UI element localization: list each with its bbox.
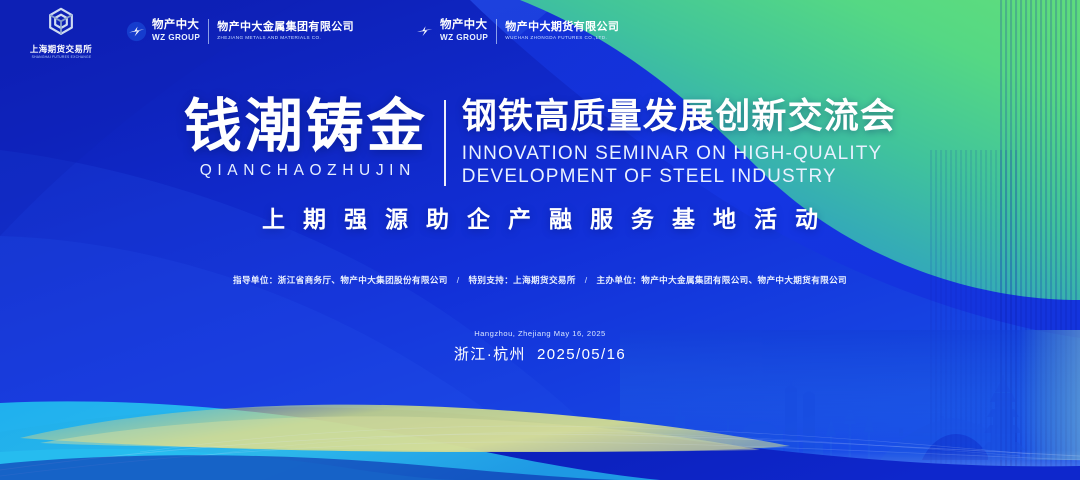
subject-cn: 钢铁高质量发展创新交流会 [462,96,896,138]
hexagon-knot-icon [41,3,81,43]
wz-brand-en: WZ GROUP [440,34,488,42]
wz-brand-cn: 物产中大 [440,20,488,32]
wz-company-en: WUCHAN ZHONGDA FUTURES CO.,LTD. [505,36,619,41]
organizer-separator: / [576,275,597,285]
organizer-separator: / [448,275,469,285]
host-value: 物产中大金属集团有限公司、物产中大期货有限公司 [641,275,847,285]
logo-shanghai-futures-exchange: 上海期货交易所 SHANGHAI FUTURES EXCHANGE [18,3,104,59]
wz-company-cn: 物产中大期货有限公司 [505,22,619,33]
title-divider [444,100,446,186]
sfe-name-cn: 上海期货交易所 [30,45,92,54]
background-artwork [0,0,1080,480]
logo-wuchan-zhongda-futures: 物产中大 WZ GROUP 物产中大期货有限公司 WUCHAN ZHONGDA … [414,16,619,46]
subject-en-line-1: INNOVATION SEMINAR ON HIGH-QUALITY [462,142,896,165]
lightning-bolt-icon [414,21,435,42]
host-label: 主办单位： [597,275,642,285]
wz-company-en: ZHEJIANG METALS AND MATERIALS CO. [217,36,354,41]
conference-banner: 上海期货交易所 SHANGHAI FUTURES EXCHANGE 物产中大 W… [0,0,1080,480]
event-date-block: Hangzhou, Zhejiang May 16, 2025 浙江·杭州 20… [0,328,1080,366]
support-label: 特别支持： [468,275,513,285]
title-row: 钱潮铸金 QIANCHAOZHUJIN 钢铁高质量发展创新交流会 INNOVAT… [184,96,896,188]
sfe-name-en: SHANGHAI FUTURES EXCHANGE [31,56,91,59]
title-block: 钱潮铸金 QIANCHAOZHUJIN 钢铁高质量发展创新交流会 INNOVAT… [0,96,1080,234]
logo-wuchan-zhongda-metals: 物产中大 WZ GROUP 物产中大金属集团有限公司 ZHEJIANG META… [126,16,354,46]
wz-brand-cn: 物产中大 [152,20,200,32]
guidance-label: 指导单位： [233,275,278,285]
logo-divider [208,19,209,44]
wz-company-block: 物产中大期货有限公司 WUCHAN ZHONGDA FUTURES CO.,LT… [505,22,619,41]
event-place-date-cn: 浙江·杭州 2025/05/16 [0,344,1080,366]
event-place-date-en: Hangzhou, Zhejiang May 16, 2025 [0,328,1080,340]
organizer-line: 指导单位：浙江省商务厅、物产中大集团股份有限公司/特别支持：上海期货交易所/主办… [0,273,1080,287]
event-date-cn: 2025/05/16 [537,346,626,363]
brand-block: 钱潮铸金 QIANCHAOZHUJIN [184,96,444,180]
subject-block: 钢铁高质量发展创新交流会 INNOVATION SEMINAR ON HIGH-… [446,96,896,188]
wz-brand-block: 物产中大 WZ GROUP [152,20,200,42]
event-place-cn: 浙江·杭州 [454,346,526,363]
event-slogan: 上期强源助企产融服务基地活动 [244,204,836,234]
subject-en-line-2: DEVELOPMENT OF STEEL INDUSTRY [462,165,896,188]
wz-brand-en: WZ GROUP [152,34,200,42]
brand-title-cn: 钱潮铸金 [184,96,428,158]
wz-company-cn: 物产中大金属集团有限公司 [217,22,354,33]
support-value: 上海期货交易所 [513,275,576,285]
wz-company-block: 物产中大金属集团有限公司 ZHEJIANG METALS AND MATERIA… [217,22,354,41]
brand-title-pinyin: QIANCHAOZHUJIN [196,162,416,180]
logo-divider [496,19,497,44]
wz-brand-block: 物产中大 WZ GROUP [440,20,488,42]
guidance-value: 浙江省商务厅、物产中大集团股份有限公司 [278,275,448,285]
lightning-bolt-icon [126,21,147,42]
sponsor-logo-bar: 上海期货交易所 SHANGHAI FUTURES EXCHANGE 物产中大 W… [0,0,1080,62]
